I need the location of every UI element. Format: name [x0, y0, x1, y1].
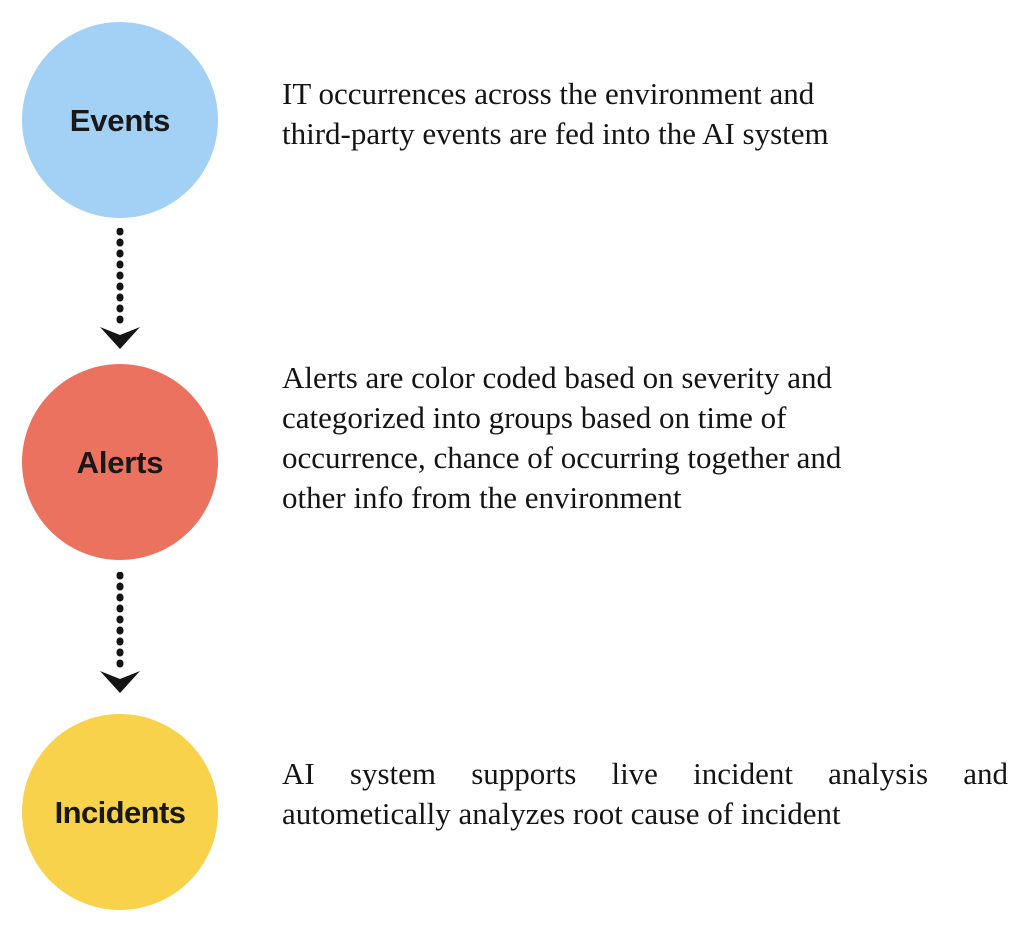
node-label-alerts: Alerts [77, 447, 164, 478]
dotted-arrow-down-icon [82, 228, 158, 352]
node-label-incidents: Incidents [55, 797, 186, 828]
stage-incidents: Incidents AI system supports live incide… [0, 714, 1028, 910]
node-circle-alerts[interactable]: Alerts [22, 364, 218, 560]
dotted-arrow-down-icon [82, 572, 158, 696]
description-incidents: AI system supports live incident analysi… [282, 754, 1008, 834]
description-events: IT occurrences across the environment an… [282, 74, 942, 154]
node-label-events: Events [70, 105, 170, 136]
description-incidents-line-1: AI system supports live incident analysi… [282, 754, 1008, 794]
stage-events: Events IT occurrences across the environ… [0, 22, 1028, 218]
description-incidents-line-2: autometically analyzes root cause of inc… [282, 794, 1008, 834]
description-events-line-2: third-party events are fed into the AI s… [282, 114, 942, 154]
flow-diagram: Events IT occurrences across the environ… [0, 0, 1028, 940]
description-alerts-line-3: occurrence, chance of occurring together… [282, 438, 954, 478]
description-alerts-line-1: Alerts are color coded based on severity… [282, 358, 954, 398]
description-events-line-1: IT occurrences across the environment an… [282, 74, 942, 114]
stage-alerts: Alerts Alerts are color coded based on s… [0, 364, 1028, 560]
arrowhead [100, 327, 140, 349]
description-alerts: Alerts are color coded based on severity… [282, 358, 954, 518]
connector-events-to-alerts [82, 228, 158, 352]
connector-alerts-to-incidents [82, 572, 158, 696]
node-circle-events[interactable]: Events [22, 22, 218, 218]
description-alerts-line-2: categorized into groups based on time of [282, 398, 954, 438]
description-alerts-line-4: other info from the environment [282, 478, 954, 518]
node-circle-incidents[interactable]: Incidents [22, 714, 218, 910]
arrowhead [100, 671, 140, 693]
